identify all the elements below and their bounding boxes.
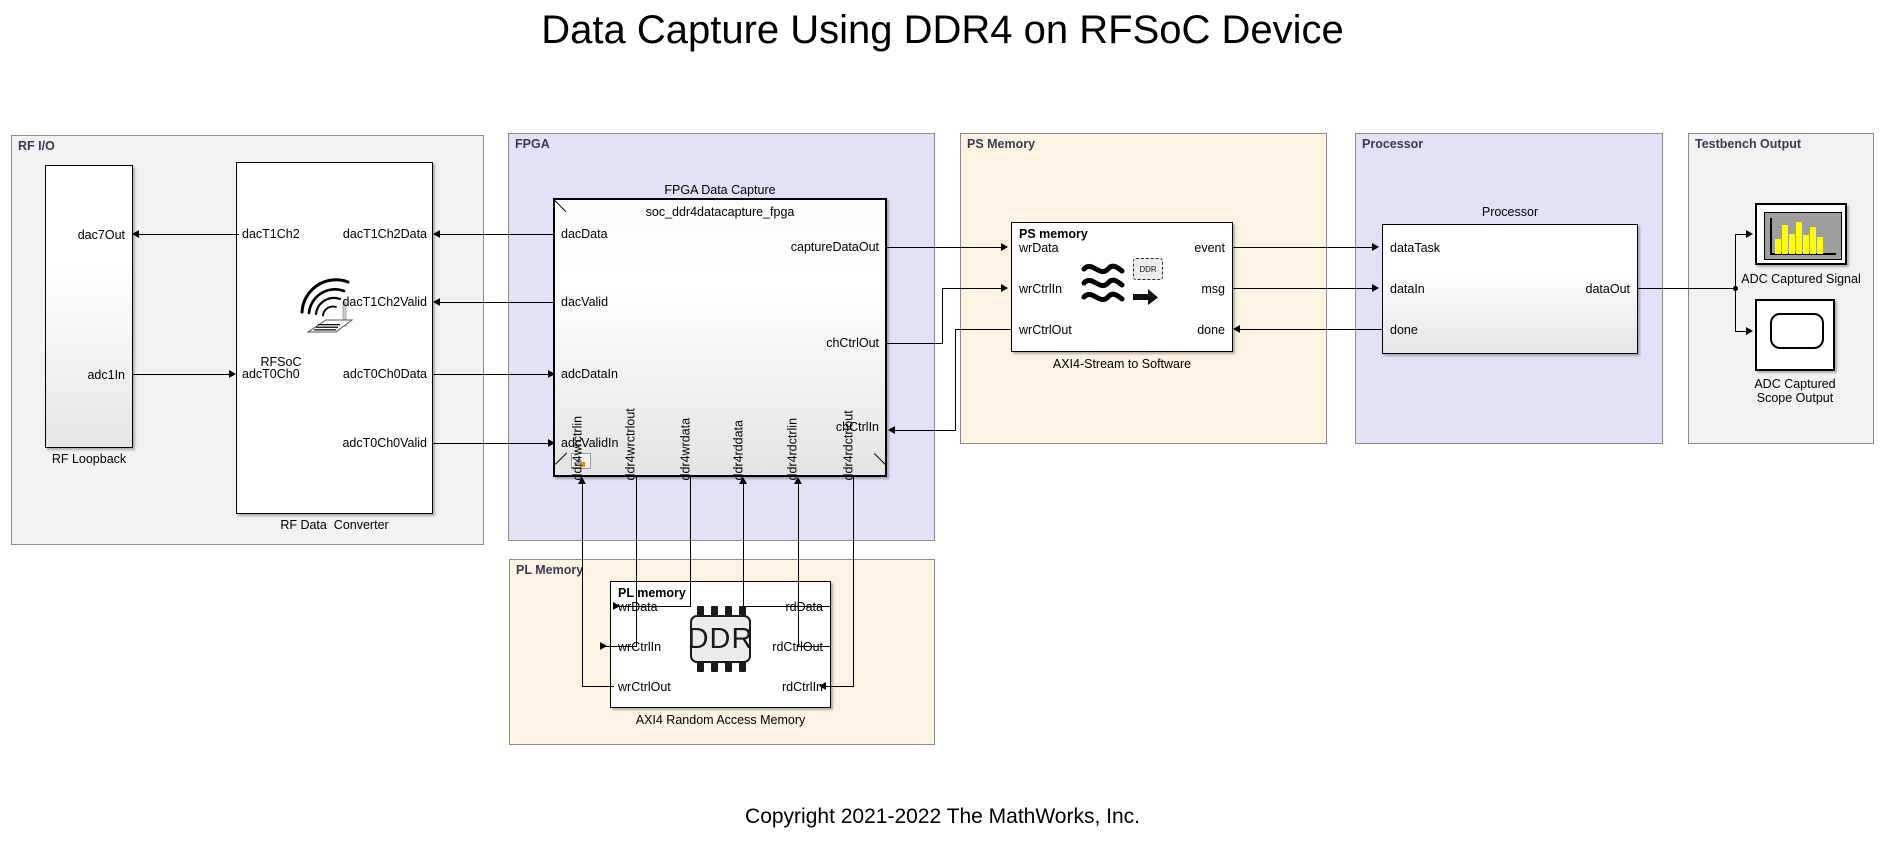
arrow-processor-datain	[1372, 284, 1379, 292]
port-fpga-bottom-ddr4rdctrlin: ddr4rdctrlin	[787, 418, 800, 481]
arrow-psmem-wrctrlin	[1001, 284, 1008, 292]
arrow-plmem-wrctrlin	[600, 642, 607, 650]
title-pl-memory: PL memory	[618, 587, 686, 600]
scope-bar	[1810, 227, 1816, 254]
wire-adc1in-to-adct0ch0	[133, 374, 232, 375]
wire-ddr4wrdata-h	[615, 606, 691, 607]
scope-bar	[1817, 237, 1823, 254]
port-fpga-bottom-ddr4wrctrlout: ddr4wrctrlout	[625, 408, 638, 480]
arrow-adc-captured-signal	[1746, 230, 1753, 238]
area-testbench-output-label: Testbench Output	[1695, 137, 1801, 151]
arrow-adct0ch0	[229, 370, 236, 378]
port-fpga-in-chctrlin: chCtrlIn	[795, 421, 879, 434]
masked-subsystem-fold-br-icon	[874, 464, 885, 475]
ddr-chip-pin	[711, 606, 718, 616]
port-plmem-in-rdctrlin: rdCtrlIn	[713, 681, 823, 694]
arrow-adcdatain	[548, 370, 555, 378]
arrow-fpga-ddr4rdctrlin	[794, 477, 802, 484]
wire-chctrlout-v1	[942, 288, 943, 344]
ddr-small-label: DDR	[1139, 265, 1156, 274]
area-rf-io-label: RF I/O	[18, 139, 55, 153]
page-title: Data Capture Using DDR4 on RFSoC Device	[0, 8, 1885, 53]
area-fpga-label: FPGA	[515, 137, 550, 151]
arrow-plmem-wrdata	[613, 602, 620, 610]
wire-capturedataout-to-wrdata	[885, 247, 1003, 248]
arrow-fpga-ddr4rddata	[739, 477, 747, 484]
caption-rf-data-converter: RF Data Converter	[236, 518, 433, 532]
port-fpga-bottom-ddr4rdctrlout: ddr4rdctrlout	[843, 410, 856, 480]
ddr-chip-pin	[725, 662, 732, 672]
wire-dataout-v-up	[1735, 234, 1736, 288]
port-psmem-in-wrctrlout: wrCtrlOut	[1019, 324, 1072, 337]
arrow-plmem-rdctrlin	[819, 682, 826, 690]
port-processor-out-dataout: dataOut	[1530, 283, 1630, 296]
caption-pl-memory: AXI4 Random Access Memory	[610, 713, 831, 727]
port-fpga-in-adcdatain: adcDataIn	[561, 368, 618, 381]
block-adc-captured-scope-output[interactable]	[1755, 299, 1835, 371]
port-fpga-out-capturedataout: captureDataOut	[737, 241, 879, 254]
wire-ddr4wrdata-v	[690, 477, 691, 606]
wire-ddr4rdctrlout-h	[826, 686, 854, 687]
rfsoc-antenna-icon	[292, 278, 364, 340]
ddr-chip-pin	[711, 662, 718, 672]
wire-wrctrlout-h1	[955, 329, 1012, 330]
title-ps-memory: PS memory	[1019, 228, 1088, 241]
wire-dataout-v-down	[1735, 288, 1736, 331]
caption-ps-memory: AXI4-Stream to Software	[1011, 357, 1233, 371]
ddr-chip-pin	[697, 606, 704, 616]
port-plmem-in-wrctrlin: wrCtrlIn	[618, 641, 661, 654]
ddr-chip-pin	[697, 662, 704, 672]
port-psmem-out-done: done	[1113, 324, 1225, 337]
wire-chctrlout-h2	[942, 288, 1004, 289]
wire-adct0ch0valid-v2	[515, 443, 550, 444]
arrow-dact1ch2valid	[433, 298, 440, 306]
copyright-text: Copyright 2021-2022 The MathWorks, Inc.	[0, 805, 1885, 829]
wire-adct0ch0data-to-adcdatain	[433, 374, 550, 375]
wire-adct0ch0valid-v1	[433, 443, 515, 444]
arrow-adcvalidin	[548, 439, 555, 447]
port-fpga-in-dacvalid: dacValid	[561, 296, 608, 309]
port-plmem-in-wrdata: wrData	[618, 601, 658, 614]
toplabel-processor: Processor	[1382, 205, 1638, 219]
port-fpga-in-dacdata: dacData	[561, 228, 608, 241]
port-plmem-in-wrctrlout: wrCtrlOut	[618, 681, 671, 694]
port-fpga-bottom-ddr4wrdata: ddr4wrdata	[680, 418, 693, 481]
ddr-chip-label: DDR	[688, 623, 754, 656]
wire-ddr4rdctrlout-v	[853, 477, 854, 686]
area-processor-label: Processor	[1362, 137, 1423, 151]
arrow-dac7out	[132, 230, 139, 238]
port-processor-in-datain: dataIn	[1390, 283, 1425, 296]
arrow-psmem-done	[1233, 325, 1240, 333]
ddr-chip-pin	[725, 606, 732, 616]
caption-adc-captured-signal: ADC Captured Signal	[1706, 272, 1885, 286]
arrow-psmem-wrdata	[1001, 243, 1008, 251]
name-fpga-data-capture: soc_ddr4datacapture_fpga	[553, 205, 887, 219]
port-rfdc-out-dact1ch2data: dacT1Ch2Data	[297, 228, 427, 241]
port-processor-in-datatask: dataTask	[1390, 242, 1440, 255]
wire-chctrlout-h1	[885, 343, 943, 344]
scope-bar	[1789, 234, 1795, 254]
wire-ddr4wrctrlin-h	[582, 686, 614, 687]
block-adc-captured-signal[interactable]	[1755, 203, 1847, 265]
scope-rounded-screen	[1770, 313, 1824, 349]
port-fpga-bottom-ddr4wrctrlin: ddr4wrctrlin	[572, 416, 585, 481]
masked-subsystem-fold-bl-icon	[555, 464, 566, 475]
area-ps-memory-label: PS Memory	[967, 137, 1035, 151]
port-psmem-in-wrdata: wrData	[1019, 242, 1059, 255]
ddr-chip-small-icon: DDR	[1133, 258, 1163, 280]
caption-adc-captured-scope-output: ADC Captured Scope Output	[1700, 377, 1885, 406]
scope-screen	[1764, 212, 1842, 260]
scope-bar	[1796, 222, 1802, 254]
wire-dacvalid-to-dact1ch2valid	[440, 302, 554, 303]
arrow-adc-captured-scope	[1746, 327, 1753, 335]
area-pl-memory-label: PL Memory	[516, 563, 583, 577]
wire-ddr4wrctrlin-v	[582, 484, 583, 687]
arrow-fpga-chctrlin	[888, 426, 895, 434]
port-rfdc-out-dact1ch2valid: dacT1Ch2Valid	[297, 296, 427, 309]
arrow-fpga-ddr4wrctrlin	[578, 477, 586, 484]
caption-rf-loopback: RF Loopback	[23, 452, 155, 466]
port-rfdc-out-adct0ch0data: adcT0Ch0Data	[297, 368, 427, 381]
ddr-chip-pin	[739, 606, 746, 616]
wire-wrctrlout-v1	[955, 329, 956, 430]
ddr-chip-icon: DDR	[690, 615, 751, 663]
scope-y-axis	[1770, 218, 1772, 254]
wire-ddr4wrctrlout-v	[636, 477, 637, 646]
arrow-dact1ch2data	[433, 230, 440, 238]
scope-bar	[1775, 239, 1781, 254]
port-psmem-in-wrctrlin: wrCtrlIn	[1019, 283, 1062, 296]
arrow-processor-datatask	[1372, 243, 1379, 251]
wire-ddr4rddata-h	[743, 606, 831, 607]
scope-bar	[1782, 225, 1788, 254]
port-rfdc-in-dact1ch2: dacT1Ch2	[242, 228, 300, 241]
port-psmem-out-event: event	[1113, 242, 1225, 255]
wire-dact1ch2-to-dac7out	[139, 234, 239, 235]
block-rf-loopback[interactable]	[45, 165, 133, 448]
port-fpga-bottom-ddr4rddata: ddr4rddata	[733, 420, 746, 480]
toplabel-fpga-data-capture: FPGA Data Capture	[553, 183, 887, 197]
wire-dacdata-to-dact1ch2data	[440, 234, 554, 235]
wire-wrctrlout-h2	[895, 430, 956, 431]
port-rf-loopback-adc1in: adc1In	[53, 369, 125, 382]
wire-done-to-psmem-done	[1240, 329, 1382, 330]
wire-msg-to-datain	[1233, 288, 1374, 289]
port-fpga-out-chctrlout: chCtrlOut	[737, 337, 879, 350]
wire-ddr4rdctrlin-v	[798, 484, 799, 646]
ddr-chip-pin	[739, 662, 746, 672]
port-rfdc-in-adct0ch0: adcT0Ch0	[242, 368, 300, 381]
wire-ddr4rddata-v	[743, 484, 744, 606]
scope-bar	[1803, 235, 1809, 254]
port-rf-loopback-dac7out: dac7Out	[53, 229, 125, 242]
wire-ddr4rdctrlin-h	[798, 646, 831, 647]
port-processor-in-done: done	[1390, 324, 1418, 337]
wire-dataout-h1	[1638, 288, 1736, 289]
port-rfdc-out-adct0ch0valid: adcT0Ch0Valid	[297, 437, 427, 450]
wire-event-to-datatask	[1233, 247, 1374, 248]
